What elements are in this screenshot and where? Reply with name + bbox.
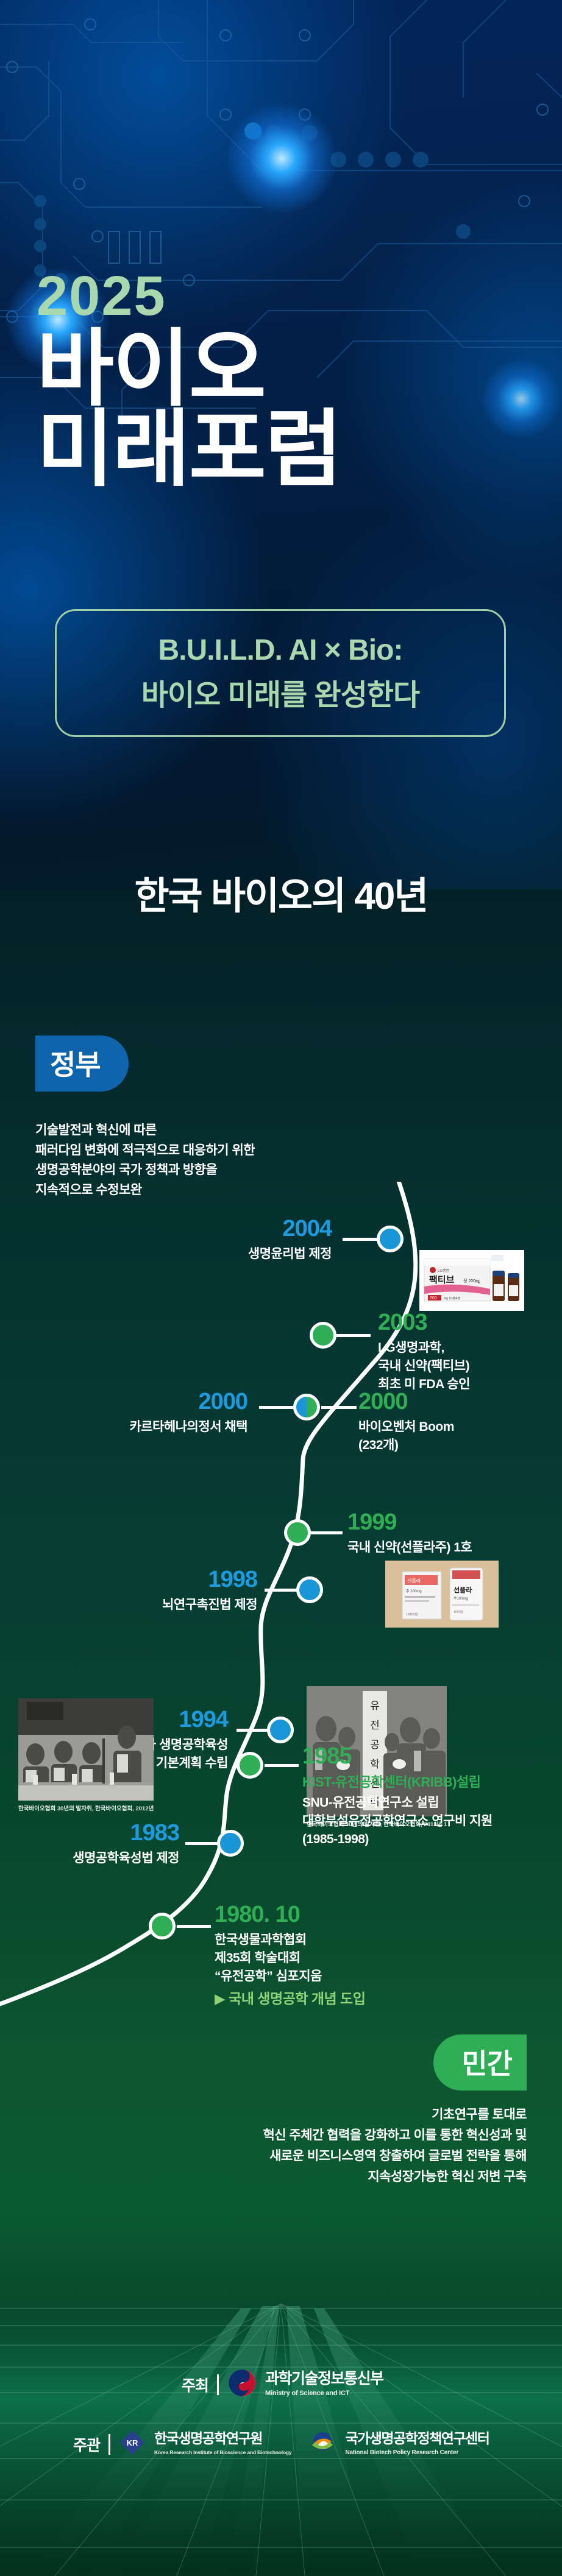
svg-text:주100mg: 주100mg	[454, 1597, 468, 1601]
timeline-stem-2004	[343, 1238, 378, 1241]
organizer2: 국가생명공학정책연구센터 National Biotech Policy Res…	[345, 2431, 489, 2457]
timeline-node-1994	[267, 1717, 294, 1743]
slogan-line2: 바이오 미래를 완성한다	[141, 671, 419, 713]
timeline-desc: 카르타헤나의정서 채택	[129, 1418, 247, 1436]
poster-root: 2025 바이오 미래포럼 B.U.I.L.D. AI × Bio: 바이오 미…	[0, 0, 562, 2576]
svg-text:1바이알: 1바이알	[454, 1610, 464, 1614]
timeline-desc: KIST-유전공학센터(KRIBB)설립	[302, 1773, 493, 1791]
timeline-year: 1985	[302, 1745, 493, 1768]
kribb-logo-icon: KR	[119, 2429, 146, 2459]
timeline-year: 2000	[358, 1390, 454, 1413]
timeline-extra: SNU-유전공학연구소 설립 대학부설유전공학연구소 연구비 지원 (1985-…	[302, 1794, 493, 1848]
svg-text:유: 유	[370, 1700, 380, 1712]
hero-year: 2025	[37, 268, 166, 324]
timeline-desc: 뇌연구촉진법 제정	[162, 1596, 257, 1614]
timeline-desc: 바이오벤처 Boom (232개)	[358, 1418, 454, 1455]
svg-text:선플라: 선플라	[454, 1586, 472, 1594]
timeline-stem-1994	[237, 1729, 269, 1732]
host-org-en: Ministry of Science and ICT	[265, 2390, 349, 2397]
timeline-node-2000	[293, 1394, 320, 1420]
perspective-grid-graphic	[0, 2248, 562, 2576]
timeline-desc: 한국생물과학협회 제35회 학술대회 “유전공학” 심포지움	[215, 1931, 365, 1985]
host-label: 주최	[182, 2374, 208, 2396]
timeline-stem-2000-right	[321, 1406, 357, 1409]
timeline-event-2000-priv: 2000 바이오벤처 Boom (232개)	[358, 1390, 454, 1455]
mosict-logo-icon	[227, 2368, 257, 2401]
host-org-ko: 과학기술정보통신부	[265, 2370, 383, 2387]
timeline-highlight: ▶ 국내 생명공학 개념 도입	[215, 1989, 365, 2009]
timeline-stem-1998	[265, 1589, 299, 1592]
svg-text:선플라: 선플라	[407, 1578, 421, 1584]
timeline-desc: 생명윤리법 제정	[248, 1245, 332, 1263]
timeline-event-1985: 1985 KIST-유전공학센터(KRIBB)설립 SNU-유전공학연구소 설립…	[302, 1745, 493, 1849]
timeline-node-1983	[217, 1830, 244, 1857]
timeline-stem-1983	[185, 1842, 219, 1845]
organizer1-ko: 한국생명공학연구원	[154, 2430, 262, 2446]
timeline-stem-1980	[177, 1925, 211, 1928]
private-description: 기초연구를 토대로 혁신 주체간 협력을 강화하고 이를 통한 혁신성과 및 새…	[88, 2105, 527, 2187]
timeline-node-2004	[377, 1226, 404, 1252]
slogan-line1: B.U.I.L.D. AI × Bio:	[158, 633, 403, 667]
organizer2-ko: 국가생명공학정책연구센터	[345, 2430, 489, 2446]
timeline-stem-1999	[311, 1531, 343, 1534]
timeline-year: 1980. 10	[215, 1903, 365, 1926]
timeline-event-1998: 1998 뇌연구촉진법 제정	[162, 1568, 257, 1614]
svg-text:KR: KR	[127, 2438, 138, 2447]
badge-private: 민간	[433, 2034, 527, 2091]
organizer-label: 주관	[73, 2433, 100, 2455]
timeline-event-1999: 1999 국내 신약(선플라주) 1호	[347, 1511, 472, 1557]
hero-title-line1: 바이오	[37, 322, 265, 416]
timeline-desc: 국내 신약(선플라주) 1호	[347, 1539, 472, 1557]
timeline-event-2003: 2003 LG생명과학, 국내 신약(팩티브) 최초 미 FDA 승인	[378, 1311, 470, 1393]
photo-factive: LG생명 팩티브 정 200㎎ 200 mg 10정포장	[419, 1250, 524, 1311]
organizer1-en: Korea Research Institute of Bioscience a…	[154, 2449, 291, 2455]
svg-text:전: 전	[370, 1720, 380, 1731]
hero-title: 바이오 미래포럼	[37, 329, 524, 490]
hero-title-line2: 미래포럼	[37, 409, 524, 490]
photo-symposium: 한국바이오협회 30년의 발자취, 한국바이오협회, 2012년 11월'	[18, 1698, 154, 1814]
timeline-event-2000-gov: 2000 카르타헤나의정서 채택	[129, 1390, 247, 1436]
timeline-year: 1998	[162, 1568, 257, 1591]
host-org: 과학기술정보통신부 Ministry of Science and ICT	[265, 2371, 383, 2398]
glow-accent-1	[227, 104, 336, 213]
host-divider	[217, 2374, 219, 2395]
svg-text:팩티브: 팩티브	[429, 1275, 455, 1285]
timeline-node-1998	[296, 1576, 323, 1603]
svg-text:10바이알: 10바이알	[406, 1612, 418, 1617]
timeline-year: 2003	[378, 1311, 470, 1334]
host-row: 주최 과학기술정보통신부 Ministry of Science and ICT	[182, 2368, 383, 2401]
nbprc-logo-icon	[308, 2429, 336, 2459]
timeline-stem-1985	[265, 1764, 299, 1767]
timeline-year: 2000	[129, 1390, 247, 1413]
photo-caption: 한국바이오협회 30년의 발자취, 한국바이오협회, 2012년 11월'	[18, 1805, 154, 1812]
svg-text:200: 200	[430, 1296, 437, 1300]
page-title: 한국 바이오의 40년	[0, 865, 562, 920]
timeline-year: 2004	[248, 1217, 332, 1240]
photo-sunpla: 선플라 주 100mg 10바이알 선플라 주100mg 1바이알	[385, 1561, 499, 1628]
timeline-year: 1983	[73, 1821, 179, 1844]
timeline-node-1985	[237, 1752, 263, 1779]
timeline-stem-2003	[336, 1334, 371, 1337]
timeline-node-1980	[149, 1913, 176, 1939]
timeline-desc: LG생명과학, 국내 신약(팩티브) 최초 미 FDA 승인	[378, 1339, 470, 1393]
organizer-divider	[108, 2434, 110, 2455]
timeline-desc: 생명공학육성법 제정	[73, 1849, 179, 1868]
svg-text:정 200㎎: 정 200㎎	[463, 1278, 480, 1284]
timeline-year: 1999	[347, 1511, 472, 1534]
timeline-node-1999	[284, 1519, 311, 1546]
svg-text:주 100mg: 주 100mg	[406, 1589, 422, 1593]
timeline-stem-2000-left	[259, 1406, 294, 1409]
timeline-node-2003	[310, 1322, 336, 1349]
timeline-event-1983: 1983 생명공학육성법 제정	[73, 1821, 179, 1868]
organizer1: 한국생명공학연구원 Korea Research Institute of Bi…	[154, 2431, 291, 2457]
svg-text:LG생명: LG생명	[438, 1268, 449, 1273]
slogan-box: B.U.I.L.D. AI × Bio: 바이오 미래를 완성한다	[55, 609, 506, 737]
svg-text:mg 10정포장: mg 10정포장	[444, 1296, 461, 1300]
organizer-row: 주관 KR 한국생명공학연구원 Korea Research Institute…	[73, 2429, 489, 2459]
timeline-event-1980: 1980. 10 한국생물과학협회 제35회 학술대회 “유전공학” 심포지움 …	[215, 1903, 365, 2009]
timeline-event-2004: 2004 생명윤리법 제정	[248, 1217, 332, 1263]
organizer2-en: National Biotech Policy Research Center	[345, 2449, 458, 2456]
badge-government: 정부	[35, 1036, 129, 1092]
